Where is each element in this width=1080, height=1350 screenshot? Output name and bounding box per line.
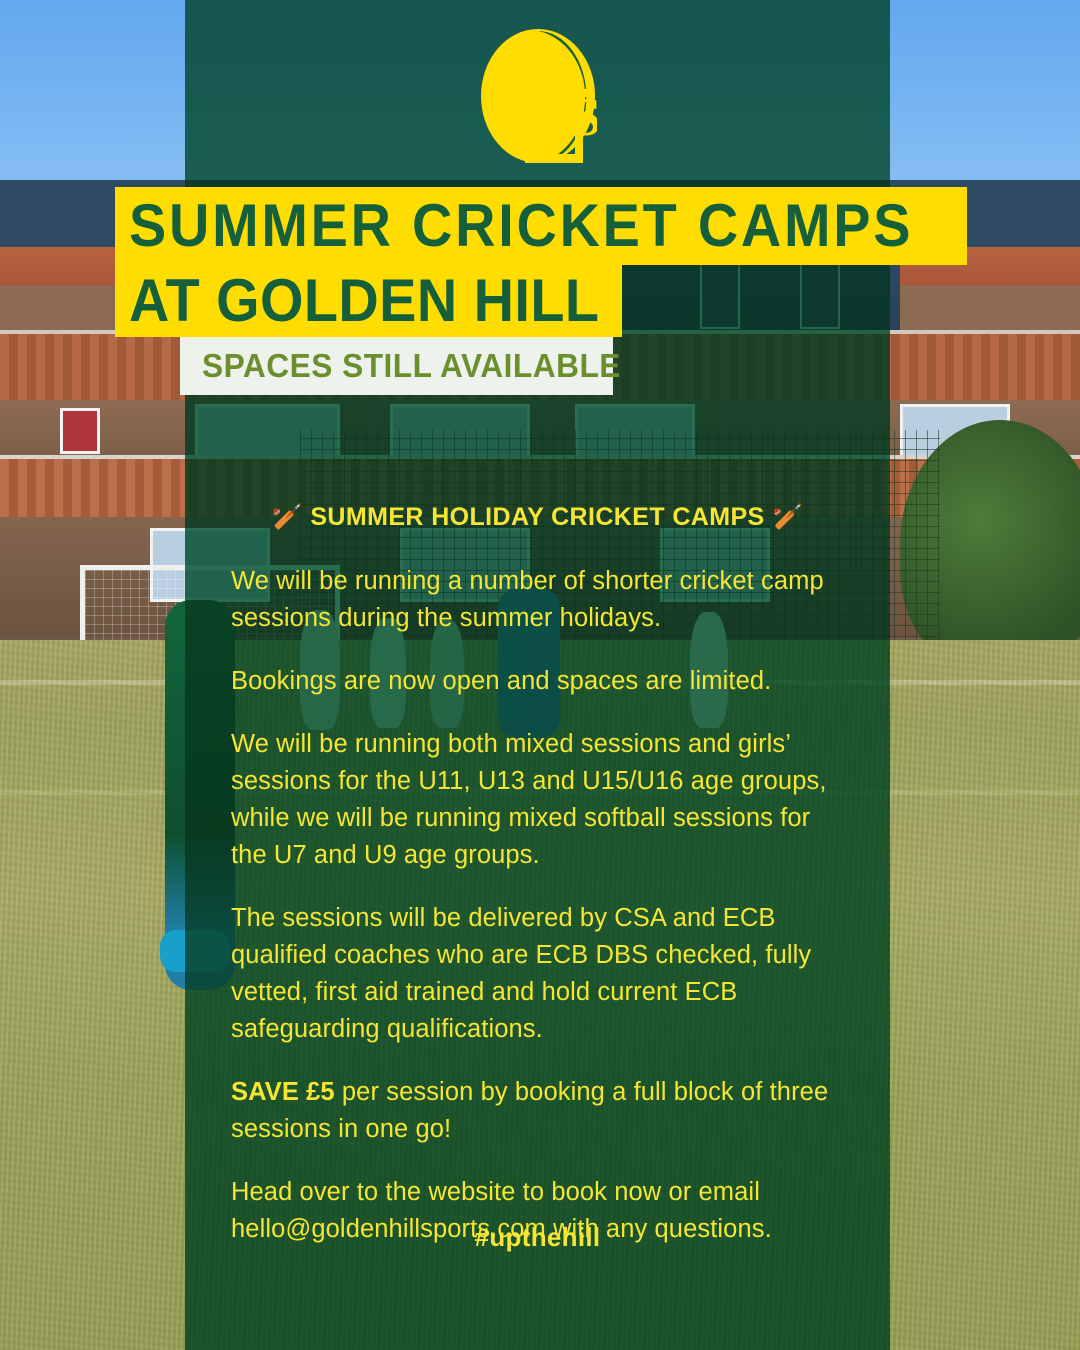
title-band-line1: SUMMER CRICKET CAMPS [115, 187, 967, 265]
subtitle-band: SPACES STILL AVAILABLE [180, 337, 613, 395]
title-band-line2: AT GOLDEN HILL [115, 265, 622, 337]
body-heading-text: SUMMER HOLIDAY CRICKET CAMPS [310, 503, 764, 531]
logo-container: HS [185, 18, 890, 173]
title-line1: SUMMER CRICKET CAMPS [129, 196, 913, 256]
body-copy: We will be running a number of shorter c… [231, 563, 841, 1248]
golden-hill-sports-ghs-logo: HS [479, 27, 597, 165]
paragraph: We will be running both mixed sessions a… [231, 726, 841, 874]
cricket-bat-icon: 🏏 [772, 503, 804, 531]
title-line2: AT GOLDEN HILL [129, 271, 599, 331]
paragraph: The sessions will be delivered by CSA an… [231, 900, 841, 1048]
svg-text:HS: HS [529, 87, 597, 147]
hashtag: #upthehill [185, 1222, 890, 1253]
paragraph: Bookings are now open and spaces are lim… [231, 663, 841, 700]
cricket-bat-icon: 🏏 [271, 503, 303, 531]
paragraph-save-offer: SAVE £5 per session by booking a full bl… [231, 1074, 841, 1148]
paragraph: We will be running a number of shorter c… [231, 563, 841, 637]
body-heading: 🏏 SUMMER HOLIDAY CRICKET CAMPS 🏏 [185, 503, 890, 532]
save-amount: SAVE £5 [231, 1078, 335, 1106]
subtitle-text: SPACES STILL AVAILABLE [202, 347, 621, 385]
